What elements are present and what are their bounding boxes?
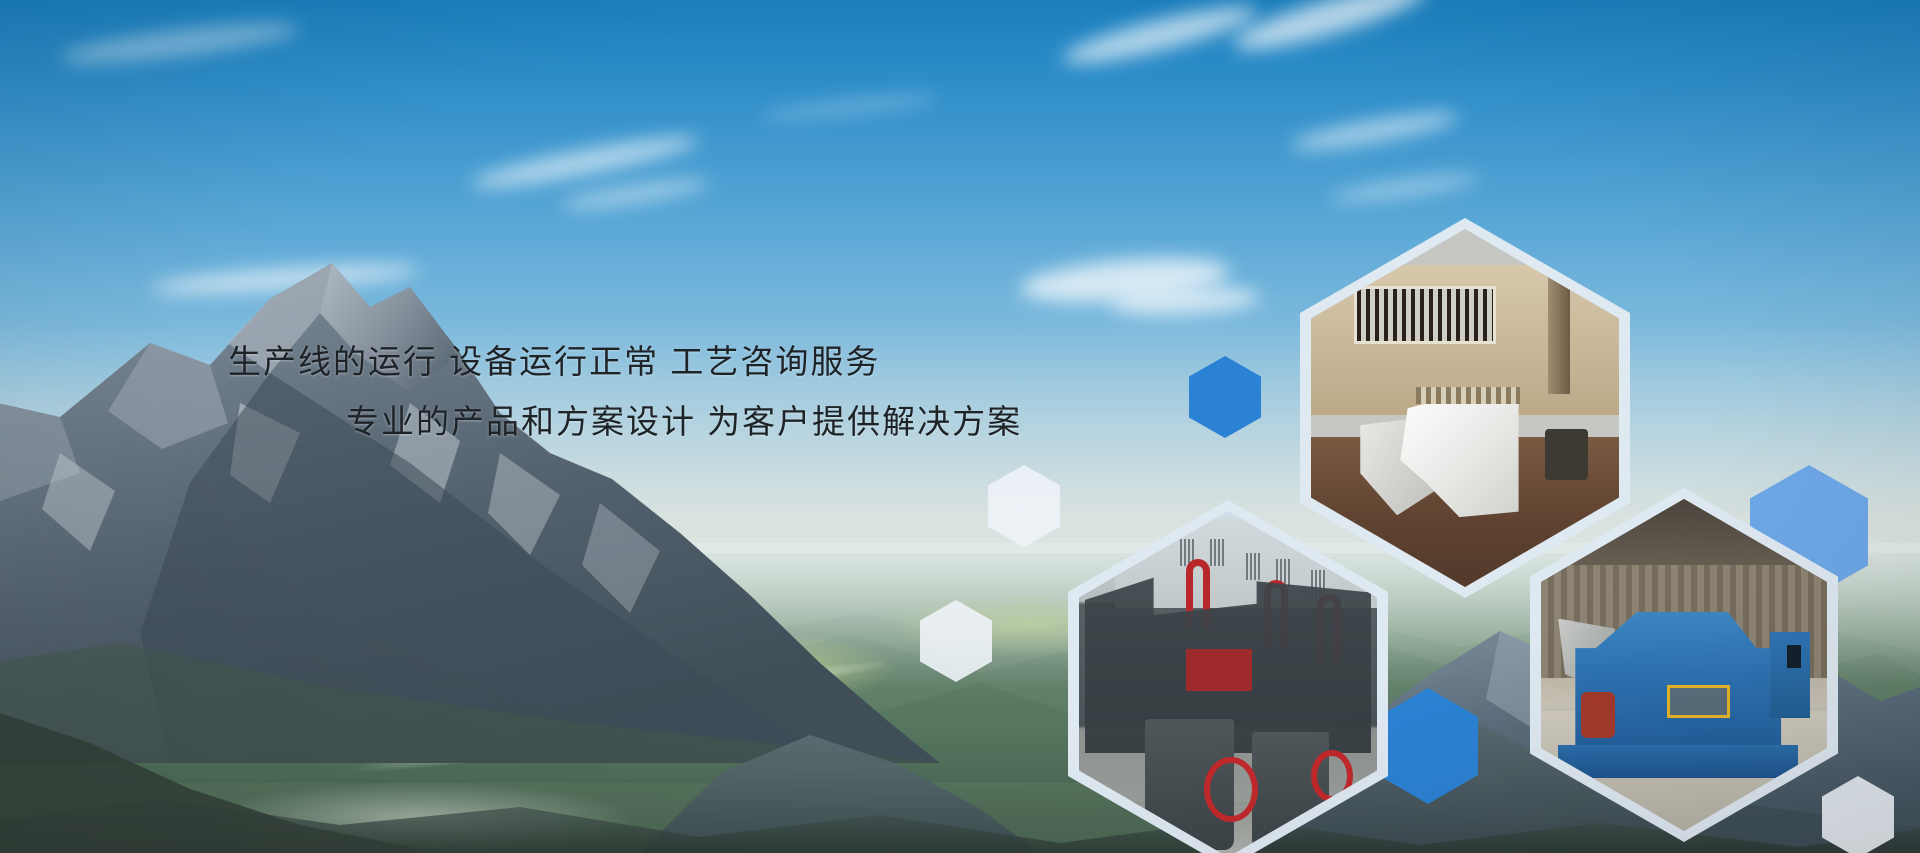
motor-unit <box>1581 692 1615 738</box>
factory-window <box>1210 539 1225 567</box>
photo-blue-shredder <box>1541 499 1827 831</box>
hero-banner: 生产线的运行 设备运行正常 工艺咨询服务 专业的产品和方案设计 为客户提供解决方… <box>0 0 1920 853</box>
yellow-guard-rail <box>1667 685 1730 718</box>
headline-line-2: 专业的产品和方案设计 为客户提供解决方案 <box>228 392 1022 452</box>
red-panel <box>1186 649 1252 691</box>
photo-casting-machine <box>1311 229 1619 587</box>
factory-window <box>1246 553 1261 581</box>
shredder-base <box>1558 745 1798 778</box>
hex-photo-top-image <box>1311 229 1619 587</box>
drum-object <box>1545 429 1588 479</box>
red-handwheel <box>1311 750 1353 802</box>
hex-photo-right-image <box>1541 499 1827 831</box>
page-title: 生产线的运行 设备运行正常 工艺咨询服务 专业的产品和方案设计 为客户提供解决方… <box>228 332 1022 452</box>
headline-line-1: 生产线的运行 设备运行正常 工艺咨询服务 <box>228 343 880 380</box>
hex-photo-left-image <box>1079 511 1377 853</box>
red-handwheel <box>1204 757 1258 823</box>
cabinet-window <box>1787 645 1801 668</box>
barred-window <box>1354 286 1496 343</box>
photo-ladle-equipment <box>1079 511 1377 853</box>
machine-flange <box>1416 387 1521 405</box>
